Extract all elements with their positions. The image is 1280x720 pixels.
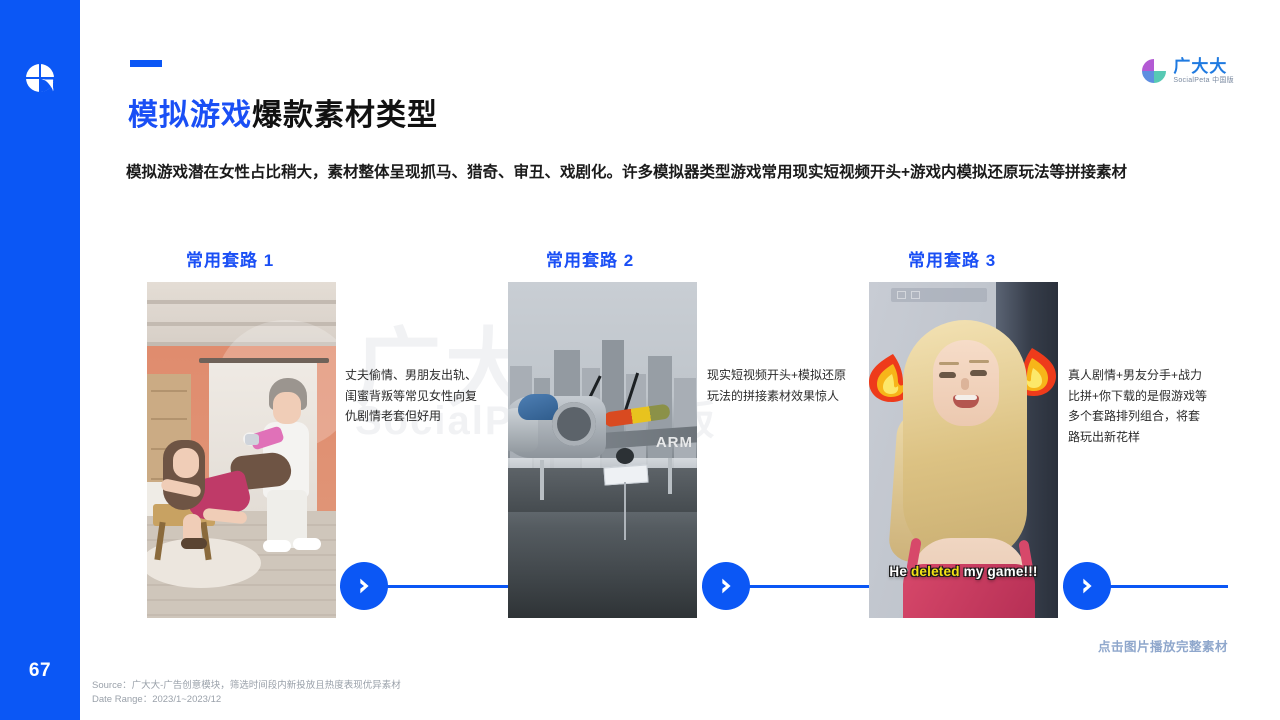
page-title-rest: 爆款素材类型: [252, 99, 438, 132]
brand-logo: 广大大 SocialPeta 中国版: [1142, 58, 1234, 84]
chevron-right-icon: [1076, 575, 1098, 597]
thumbnail-3[interactable]: He deleted my game!!!: [869, 282, 1058, 618]
column-heading-2: 常用套路 2: [546, 246, 634, 271]
brand-subtitle: SocialPeta 中国版: [1173, 77, 1234, 84]
column-description-1: 丈夫偷情、男朋友出轨、闺蜜背叛等常见女性向复仇剧情老套但好用: [345, 365, 487, 427]
source-line-2: Date Range：2023/1~2023/12: [92, 693, 401, 707]
thumbnail-3-artwork: He deleted my game!!!: [869, 282, 1058, 618]
title-accent-bar: [130, 60, 162, 67]
page-number: 67: [0, 660, 80, 682]
thumbnail-2-artwork: ARM: [508, 282, 697, 618]
brand-name: 广大大: [1173, 58, 1234, 75]
caption-before: He: [889, 564, 911, 579]
caption-highlight: deleted: [911, 564, 960, 579]
thumbnail-1-artwork: [147, 282, 336, 618]
column-description-2: 现实短视频开头+模拟还原玩法的拼接素材效果惊人: [707, 365, 849, 406]
chevron-right-icon: [715, 575, 737, 597]
slide-root: 广大大 SocialPeta 中国版 67 模拟游戏爆款素材类型: [0, 0, 1280, 720]
next-arrow-button-2[interactable]: [702, 562, 750, 610]
thumbnail-2[interactable]: ARM: [508, 282, 697, 618]
chevron-right-icon: [353, 575, 375, 597]
brand-pinwheel-icon: [1142, 59, 1166, 83]
source-footnote: Source：广大大-广告创意模块，筛选时间段内新投放且热度表现优异素材 Dat…: [92, 679, 401, 708]
source-line-1: Source：广大大-广告创意模块，筛选时间段内新投放且热度表现优异素材: [92, 679, 401, 693]
column-description-3: 真人剧情+男友分手+战力比拼+你下载的是假游戏等多个套路排列组合，将套路玩出新花…: [1068, 365, 1210, 448]
next-arrow-button-1[interactable]: [340, 562, 388, 610]
brand-text: 广大大 SocialPeta 中国版: [1173, 58, 1234, 84]
column-heading-1: 常用套路 1: [186, 246, 274, 271]
caption-after: my game!!!: [960, 564, 1038, 579]
video-overlay-bar: [891, 288, 987, 302]
left-blue-rail: 67: [0, 0, 80, 720]
column-heading-3: 常用套路 3: [908, 246, 996, 271]
next-arrow-button-3[interactable]: [1063, 562, 1111, 610]
page-title: 模拟游戏爆款素材类型: [128, 90, 438, 134]
play-hint-label: 点击图片播放完整素材: [1098, 636, 1228, 655]
video-caption: He deleted my game!!!: [869, 564, 1058, 579]
rail-logo-icon: [24, 62, 56, 94]
thumbnail-1[interactable]: [147, 282, 336, 618]
subtitle-text: 模拟游戏潜在女性占比稍大，素材整体呈现抓马、猎奇、审丑、戏剧化。许多模拟器类型游…: [126, 160, 1214, 185]
page-title-highlight: 模拟游戏: [128, 99, 252, 132]
jet-arm-text: ARM: [656, 434, 693, 451]
